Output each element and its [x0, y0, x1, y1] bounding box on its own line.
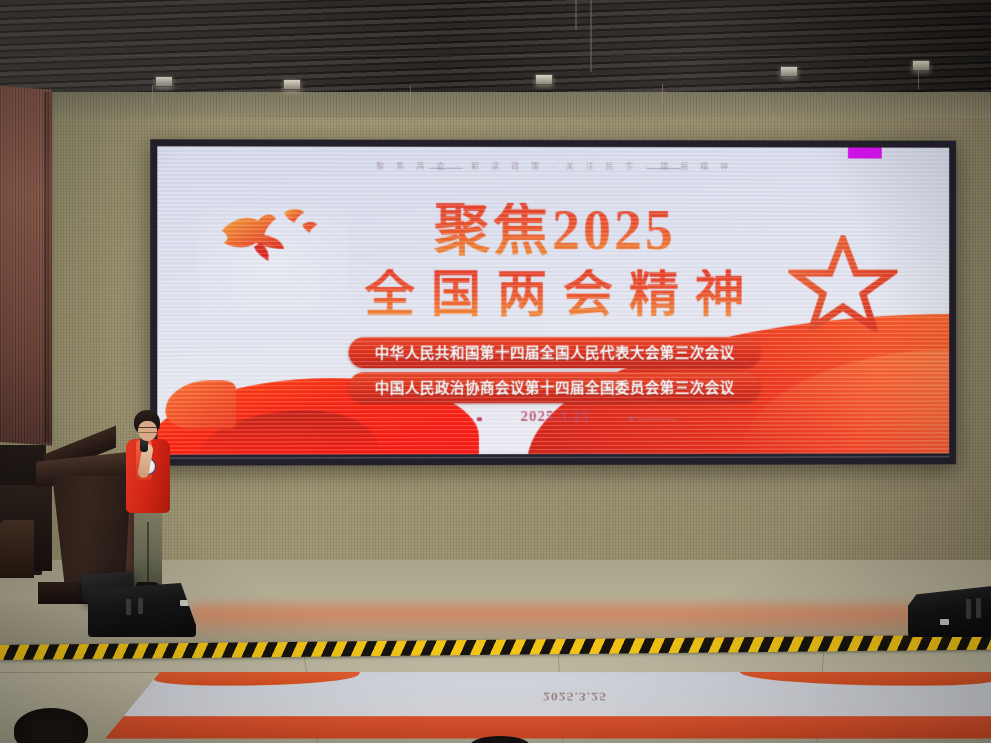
date-tail-line [637, 419, 677, 420]
reflection-date-text: 2025.3.25 [134, 689, 991, 704]
ceiling-slats [0, 0, 991, 92]
spotlight-stem [918, 69, 919, 89]
wood-panel-edge [44, 92, 54, 442]
conference-hall-scene: 聚 焦 两 会 · 解 读 政 策 · 关 注 民 生 · 提 振 精 神 [0, 0, 991, 743]
reflection-bottom-band [105, 716, 991, 738]
slide-bottom-bar [157, 453, 949, 458]
ceiling-spotlight [535, 74, 553, 85]
magenta-glitch-artifact [848, 148, 882, 159]
ceiling-seam [590, 0, 592, 72]
spotlight-stem [410, 86, 411, 106]
slide-date: 2025.3.25 [157, 409, 949, 427]
ceiling-sheen [0, 0, 991, 92]
slide-title-line-2: 全国两会精神 [157, 269, 949, 319]
stage-monitor-speaker-left [88, 583, 196, 637]
glasses-icon [138, 427, 157, 433]
presenter-leg-split [147, 522, 149, 584]
speaker-vent [126, 599, 131, 615]
ceiling-spotlight [780, 66, 798, 77]
speaker-vent [138, 598, 143, 614]
speaker-vent [966, 599, 971, 619]
slide-header-text: 聚 焦 两 会 · 解 读 政 策 · 关 注 民 生 · 提 振 精 神 [157, 160, 949, 172]
floor-screen-reflection: 2025.3.25 [105, 672, 991, 739]
speaker-label [940, 619, 949, 625]
ceiling-seam [0, 55, 991, 56]
slide-title-line-1: 聚焦2025 [157, 203, 949, 260]
date-dot-right [629, 417, 634, 421]
ceiling-seam [575, 0, 577, 30]
ceiling-spotlight [912, 60, 930, 71]
spotlight-stem [662, 84, 663, 104]
speaker-vent [976, 598, 981, 618]
led-screen[interactable]: 聚 焦 两 会 · 解 读 政 策 · 关 注 民 生 · 提 振 精 神 [150, 139, 956, 465]
stage-chair [0, 520, 34, 578]
presentation-slide: 聚 焦 两 会 · 解 读 政 策 · 关 注 民 生 · 提 振 精 神 [157, 146, 949, 458]
presenter [118, 410, 180, 590]
slide-banner-cppcc: 中国人民政治协商会议第十四届全国委员会第三次会议 [349, 372, 761, 403]
ceiling-spotlight [283, 79, 301, 90]
spotlight-stem [152, 85, 153, 105]
ceiling-spotlight [155, 76, 173, 87]
stage-red-light-glow [190, 606, 950, 638]
slide-banner-npc: 中华人民共和国第十四届全国人民代表大会第三次会议 [349, 337, 761, 368]
